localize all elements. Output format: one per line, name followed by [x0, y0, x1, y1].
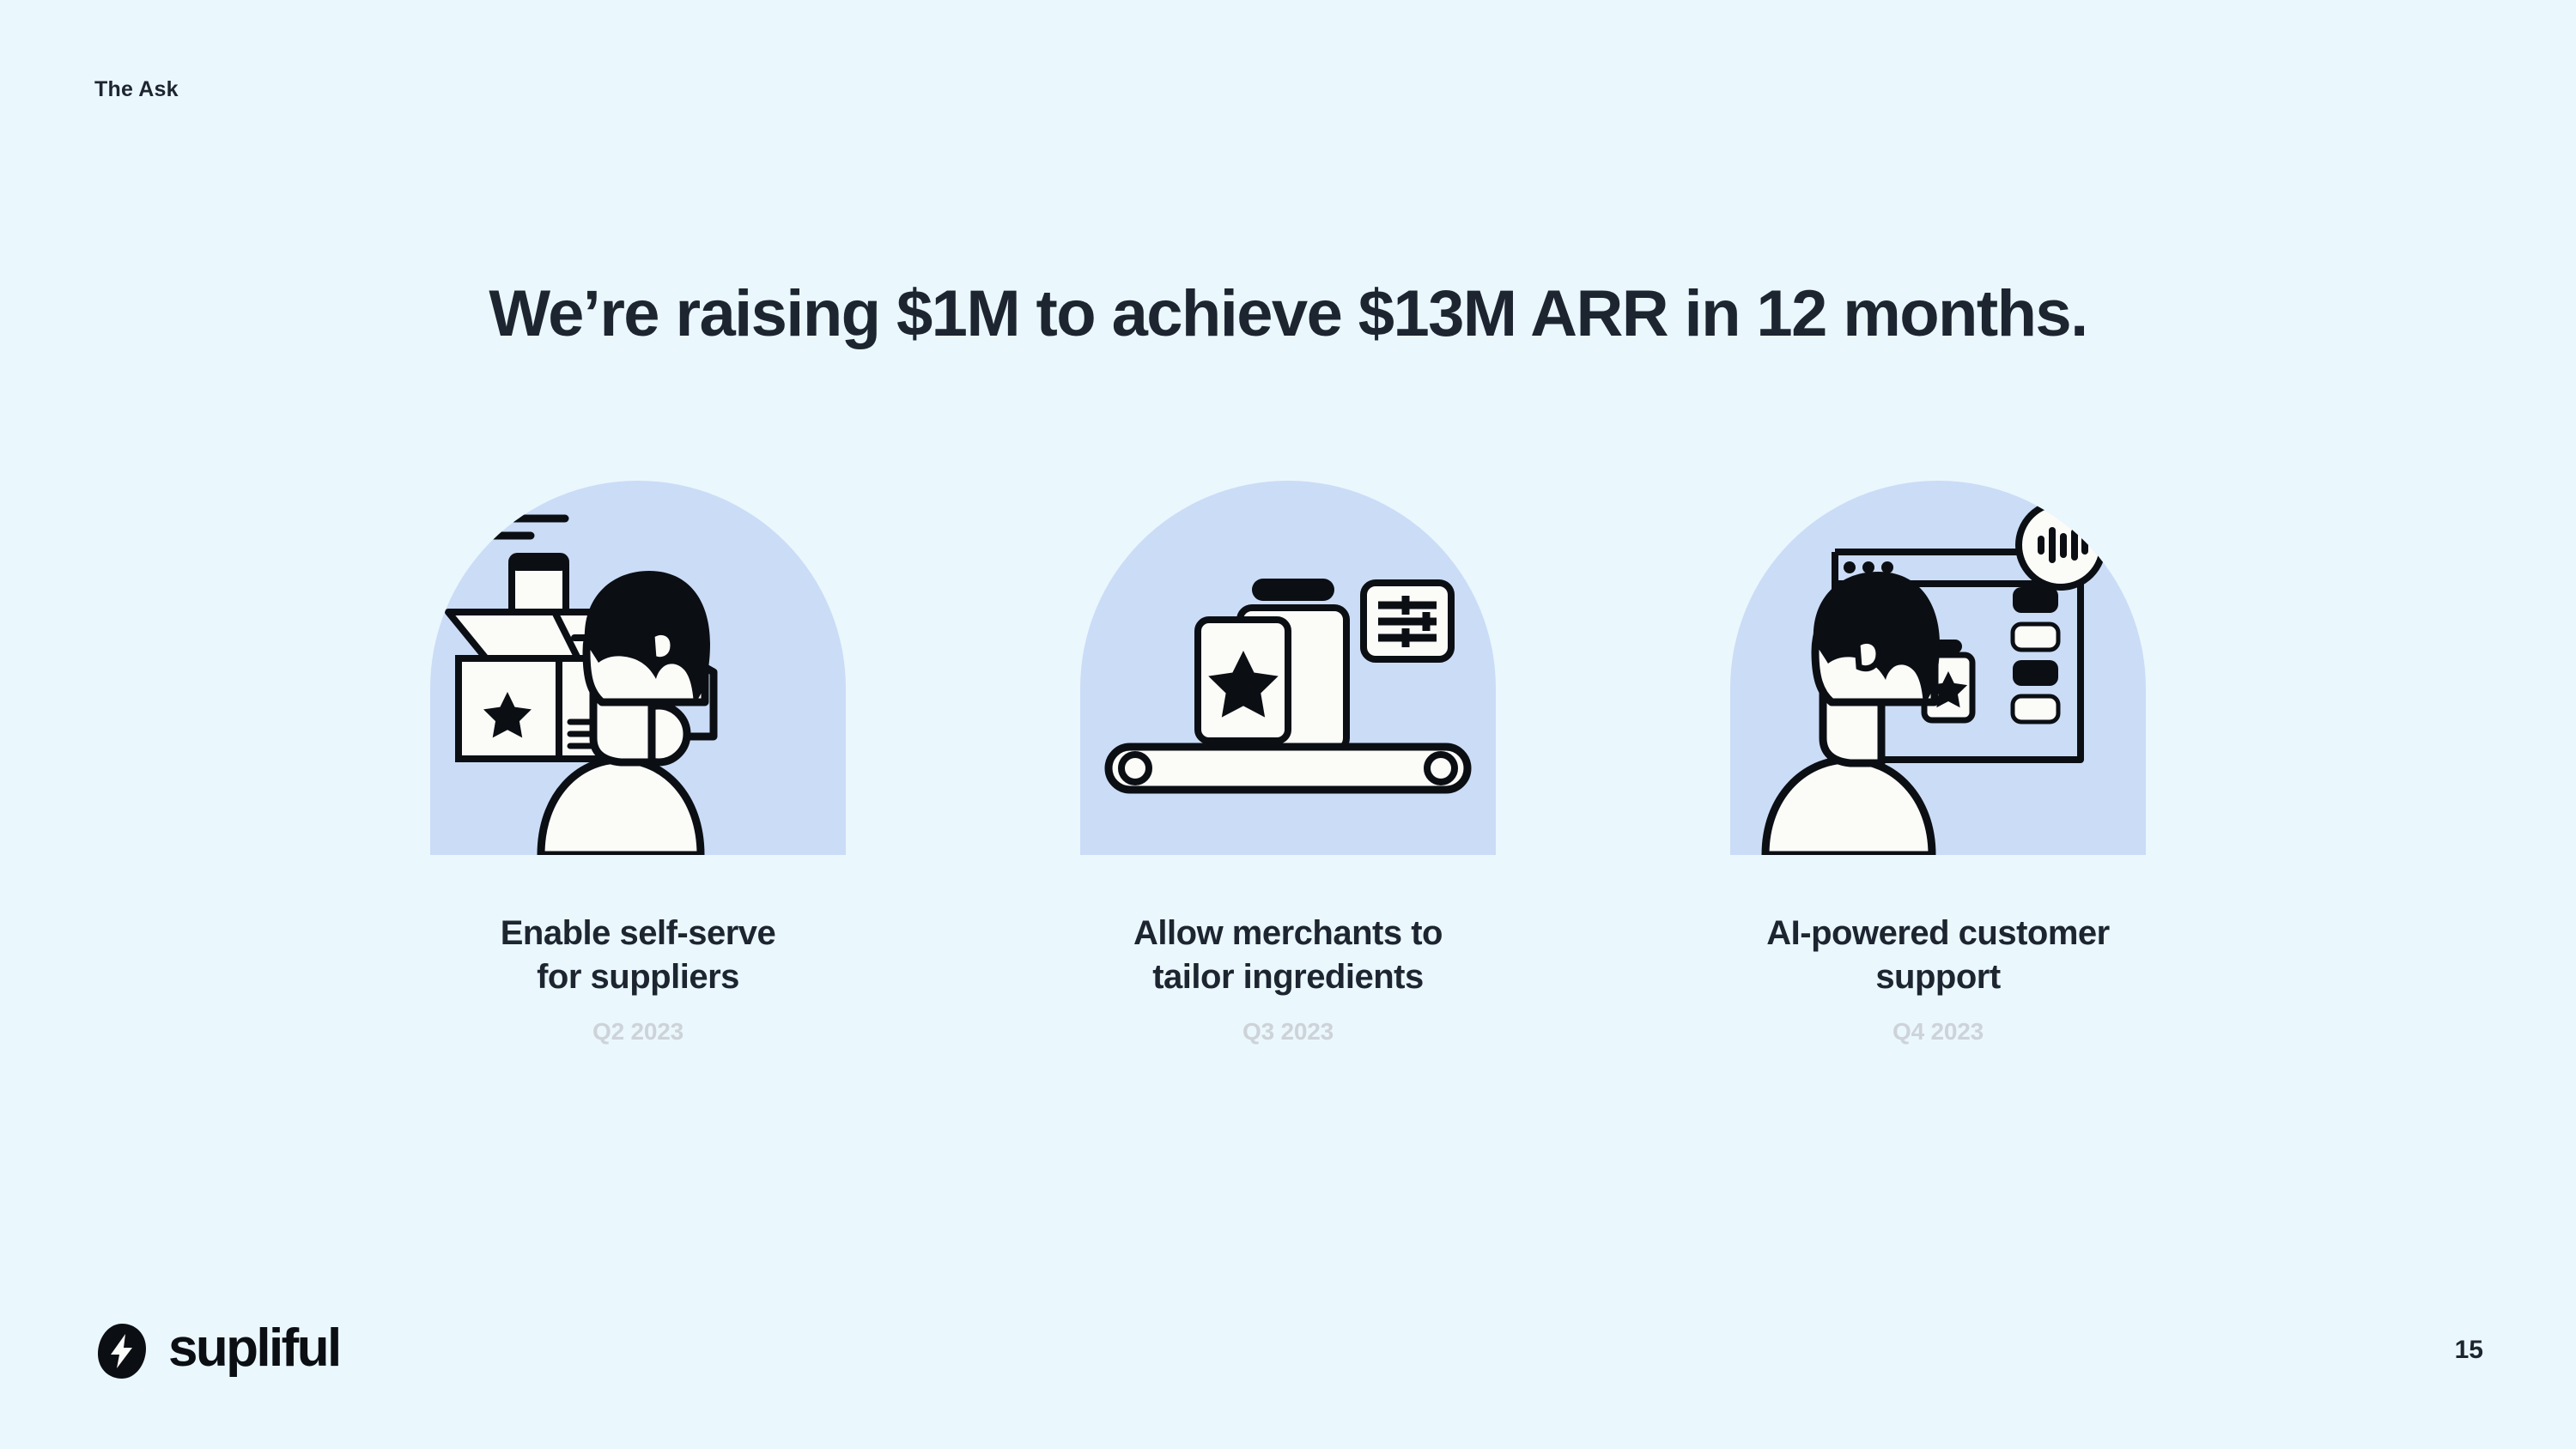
milestones-row: Enable self-serve for suppliers Q2 2023 — [0, 481, 2576, 1046]
milestone-timeframe: Q2 2023 — [592, 1018, 683, 1046]
milestone-timeframe: Q4 2023 — [1893, 1018, 1984, 1046]
page-title: We’re raising $1M to achieve $13M ARR in… — [0, 277, 2576, 350]
milestone-timeframe: Q3 2023 — [1242, 1018, 1334, 1046]
milestone-caption: Enable self-serve for suppliers — [501, 912, 776, 999]
conveyor-belt-illustration — [1080, 481, 1496, 855]
milestone-caption-line-2: support — [1766, 955, 2109, 999]
page-number: 15 — [2455, 1336, 2483, 1365]
lightning-bolt-badge-icon — [93, 1322, 151, 1380]
milestone-caption: Allow merchants to tailor ingredients — [1133, 912, 1443, 999]
milestone-caption-line-1: Allow merchants to — [1133, 912, 1443, 955]
milestone-card-1: Enable self-serve for suppliers Q2 2023 — [430, 481, 846, 1046]
milestone-caption-line-2: for suppliers — [501, 955, 776, 999]
section-eyebrow-label: The Ask — [94, 77, 179, 102]
brand-logo: supliful — [93, 1322, 340, 1380]
package-delivery-illustration — [430, 481, 846, 855]
milestone-caption: AI-powered customer support — [1766, 912, 2109, 999]
ai-support-illustration — [1730, 481, 2146, 855]
milestone-caption-line-2: tailor ingredients — [1133, 955, 1443, 999]
milestone-caption-line-1: Enable self-serve — [501, 912, 776, 955]
brand-name: supliful — [168, 1322, 340, 1375]
milestone-caption-line-1: AI-powered customer — [1766, 912, 2109, 955]
milestone-card-2: Allow merchants to tailor ingredients Q3… — [1080, 481, 1496, 1046]
slide-canvas: The Ask We’re raising $1M to achieve $13… — [0, 0, 2576, 1449]
milestone-card-3: AI-powered customer support Q4 2023 — [1730, 481, 2146, 1046]
